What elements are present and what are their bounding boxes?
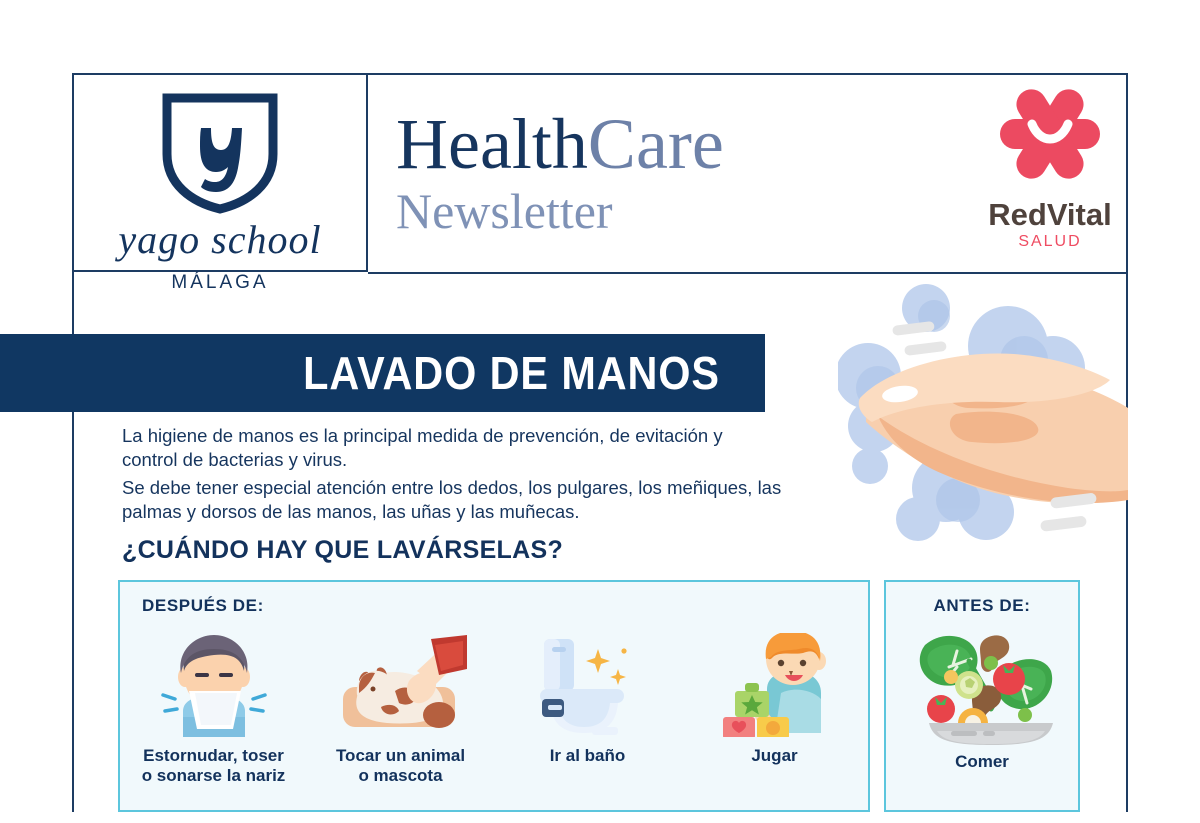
after-card-label: DESPUÉS DE: — [142, 596, 264, 616]
before-card-items: Comer — [886, 626, 1078, 806]
title-care: Care — [588, 104, 724, 184]
title-health: Health — [396, 104, 588, 184]
list-item[interactable]: Jugar — [687, 630, 862, 766]
redvital-asterisk-smile-icon — [990, 80, 1110, 192]
toilet-icon — [536, 630, 640, 740]
list-item[interactable]: Comer — [886, 626, 1078, 772]
list-item[interactable]: Tocar un animal o mascota — [313, 630, 488, 786]
child-playing-blocks-icon — [723, 630, 827, 740]
intro-paragraph-2: Se debe tener especial atención entre lo… — [122, 476, 782, 523]
publication-subtitle: Newsletter — [396, 186, 613, 236]
before-card: ANTES DE: — [884, 580, 1080, 812]
before-card-label: ANTES DE: — [886, 596, 1078, 616]
list-item-caption: Comer — [955, 752, 1009, 772]
salad-bowl-icon — [907, 626, 1057, 746]
school-city: MÁLAGA — [72, 272, 368, 294]
sponsor-tagline: SALUD — [955, 233, 1145, 251]
list-item-caption: Jugar — [751, 746, 797, 766]
sponsor-logo: RedVital SALUD — [955, 80, 1145, 251]
newsletter-page: yago school MÁLAGA HealthCare Newsletter… — [0, 0, 1200, 823]
header-divider — [368, 272, 1128, 274]
list-item-caption: Tocar un animal o mascota — [336, 746, 465, 786]
publication-title: HealthCare — [396, 108, 724, 180]
school-name: yago school — [72, 220, 368, 260]
school-logo: yago school MÁLAGA — [72, 80, 368, 294]
intro-paragraph-1: La higiene de manos es la principal medi… — [122, 424, 782, 471]
sponsor-name: RedVital — [955, 199, 1145, 230]
section-question: ¿CUÁNDO HAY QUE LAVÁRSELAS? — [122, 536, 563, 565]
list-item-caption: Estornudar, toser o sonarse la nariz — [142, 746, 286, 786]
list-item-caption: Ir al baño — [550, 746, 626, 766]
petting-cat-icon — [335, 630, 467, 740]
after-card-items: Estornudar, toser o sonarse la nariz — [120, 630, 868, 810]
after-card: DESPUÉS DE: — [118, 580, 870, 812]
banner-title: LAVADO DE MANOS — [280, 346, 743, 400]
list-item[interactable]: Ir al baño — [500, 630, 675, 766]
list-item[interactable]: Estornudar, toser o sonarse la nariz — [126, 630, 301, 786]
main-banner: LAVADO DE MANOS — [0, 334, 765, 412]
washing-hands-icon — [838, 276, 1128, 542]
shield-y-icon — [161, 92, 279, 214]
sneezing-person-icon — [161, 630, 267, 740]
